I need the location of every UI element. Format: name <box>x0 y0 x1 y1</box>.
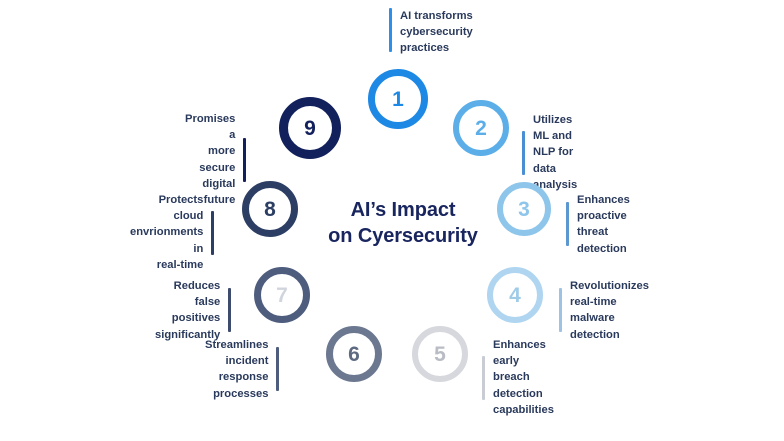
callout-text-4: Revolutionizes real-time malware detecti… <box>570 278 649 343</box>
step-callout-4: Revolutionizes real-time malware detecti… <box>559 278 649 343</box>
infographic-canvas: AI’s Impact on Cyersecurity 1AI transfor… <box>0 0 784 441</box>
callout-accent-bar-7 <box>228 288 231 332</box>
page-title: AI’s Impact on Cyersecurity <box>318 198 488 249</box>
step-callout-9: Promises a more secure digital future <box>185 111 246 208</box>
step-circle-1[interactable]: 1 <box>368 69 428 129</box>
step-number-2: 2 <box>475 118 487 139</box>
step-circle-8[interactable]: 8 <box>242 181 298 237</box>
callout-text-6: Streamlines incident response processes <box>205 337 268 402</box>
step-number-9: 9 <box>304 118 316 139</box>
step-number-1: 1 <box>392 89 404 110</box>
step-callout-2: Utilizes ML and NLP for data analysis <box>522 112 577 193</box>
step-callout-7: Reduces false positives significantly <box>155 278 231 343</box>
step-circle-4[interactable]: 4 <box>487 267 543 323</box>
callout-text-9: Promises a more secure digital future <box>185 111 235 208</box>
callout-text-5: Enhances early breach detection capabili… <box>493 337 554 418</box>
callout-accent-bar-4 <box>559 288 562 332</box>
callout-accent-bar-6 <box>276 347 279 391</box>
step-callout-5: Enhances early breach detection capabili… <box>482 337 554 418</box>
step-callout-6: Streamlines incident response processes <box>205 337 279 402</box>
step-number-3: 3 <box>518 199 530 220</box>
step-circle-9[interactable]: 9 <box>279 97 341 159</box>
callout-text-2: Utilizes ML and NLP for data analysis <box>533 112 577 193</box>
step-circle-2[interactable]: 2 <box>453 100 509 156</box>
step-circle-5[interactable]: 5 <box>412 326 468 382</box>
step-number-6: 6 <box>348 344 360 365</box>
step-number-5: 5 <box>434 344 446 365</box>
step-circle-7[interactable]: 7 <box>254 267 310 323</box>
step-number-8: 8 <box>264 199 276 220</box>
step-circle-3[interactable]: 3 <box>497 182 551 236</box>
callout-text-3: Enhances proactive threat detection <box>577 192 630 257</box>
step-number-7: 7 <box>276 285 288 306</box>
callout-accent-bar-2 <box>522 131 525 175</box>
callout-accent-bar-3 <box>566 202 569 246</box>
step-number-4: 4 <box>509 285 521 306</box>
callout-accent-bar-5 <box>482 356 485 400</box>
callout-text-7: Reduces false positives significantly <box>155 278 220 343</box>
callout-accent-bar-9 <box>243 138 246 182</box>
step-callout-3: Enhances proactive threat detection <box>566 192 630 257</box>
step-callout-1: AI transforms cybersecurity practices <box>389 8 473 57</box>
step-circle-6[interactable]: 6 <box>326 326 382 382</box>
callout-accent-bar-8 <box>211 211 214 255</box>
page-title-line-1: AI’s Impact <box>318 198 488 224</box>
callout-accent-bar-1 <box>389 8 392 52</box>
callout-text-1: AI transforms cybersecurity practices <box>400 8 473 57</box>
page-title-line-2: on Cyersecurity <box>318 224 488 250</box>
